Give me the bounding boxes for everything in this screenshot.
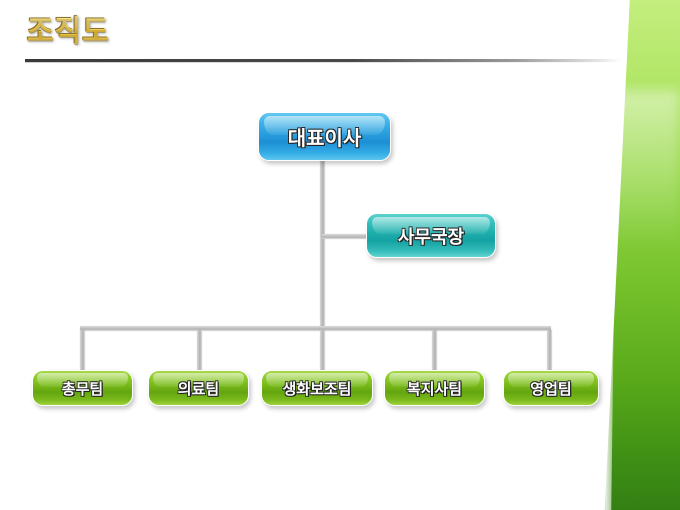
- connector-drop-team4: [432, 330, 437, 371]
- node-team-general-affairs[interactable]: 총무팀: [32, 370, 133, 406]
- node-team-medical-label: 의료팀: [178, 378, 219, 399]
- node-team-sales-label: 영업팀: [530, 378, 571, 399]
- node-team-living-support-label: 생화보조팀: [282, 378, 351, 399]
- organization-chart-slide: 조직도 대표이사 사무국장 총무팀 의료팀 생화보조팀 복지사팀 영업팀: [0, 0, 680, 510]
- node-team-medical[interactable]: 의료팀: [148, 370, 249, 406]
- node-ceo-label: 대표이사: [288, 122, 362, 151]
- connector-trunk-vertical: [320, 159, 325, 330]
- connector-staff-branch: [322, 234, 368, 239]
- connector-drop-team1: [80, 330, 85, 371]
- node-ceo[interactable]: 대표이사: [258, 112, 391, 161]
- node-secretary-general[interactable]: 사무국장: [366, 213, 496, 258]
- node-team-sales[interactable]: 영업팀: [503, 370, 599, 406]
- node-team-social-worker[interactable]: 복지사팀: [384, 370, 485, 406]
- connector-drop-team5: [547, 330, 552, 371]
- node-team-general-affairs-label: 총무팀: [62, 378, 103, 399]
- page-title: 조직도: [27, 8, 110, 50]
- node-team-living-support[interactable]: 생화보조팀: [261, 370, 373, 406]
- connector-drop-team2: [197, 330, 202, 371]
- connector-drop-team3: [320, 330, 325, 371]
- title-divider-highlight: [25, 62, 621, 63]
- connector-distribution-bar: [80, 326, 551, 331]
- slide-white-page: [0, 0, 630, 510]
- node-team-social-worker-label: 복지사팀: [407, 378, 462, 399]
- node-secretary-general-label: 사무국장: [398, 223, 464, 249]
